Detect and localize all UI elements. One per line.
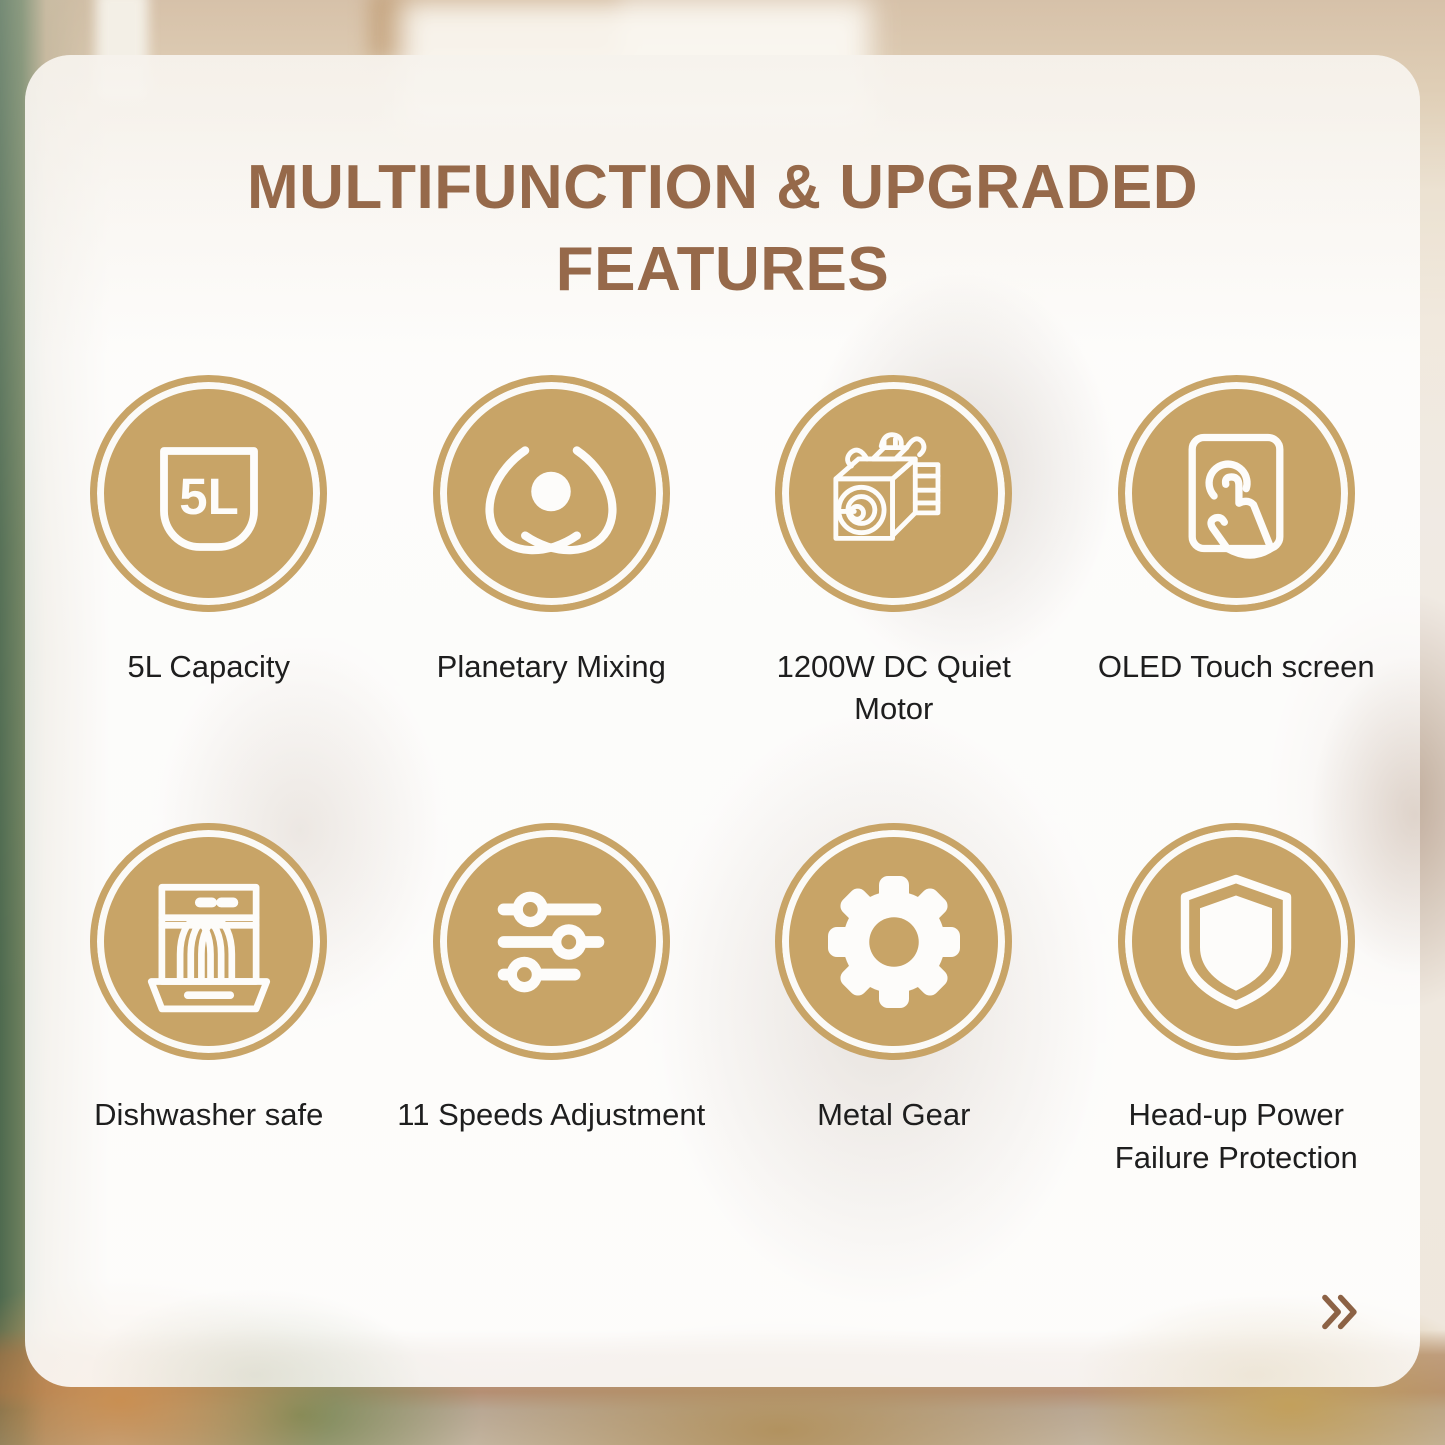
double-chevron-right-icon bbox=[1308, 1283, 1366, 1346]
feature-label: Dishwasher safe bbox=[94, 1094, 323, 1137]
feature-label: 1200W DC Quiet Motor bbox=[739, 646, 1049, 732]
feature-label: 5L Capacity bbox=[127, 646, 290, 689]
icon-badge bbox=[1118, 823, 1355, 1060]
feature-item-touch-screen[interactable]: OLED Touch screen bbox=[1065, 375, 1408, 732]
icon-badge: 5L bbox=[90, 375, 327, 612]
page-title: MULTIFUNCTION & UPGRADED FEATURES bbox=[163, 147, 1283, 311]
feature-label: Planetary Mixing bbox=[437, 646, 666, 689]
feature-item-speeds-adjustment[interactable]: 11 Speeds Adjustment bbox=[380, 823, 723, 1180]
icon-badge bbox=[433, 823, 670, 1060]
touch-screen-icon bbox=[1163, 420, 1309, 566]
shield-icon bbox=[1161, 867, 1311, 1017]
icon-badge bbox=[775, 375, 1012, 612]
feature-item-dishwasher-safe[interactable]: Dishwasher safe bbox=[38, 823, 381, 1180]
feature-item-power-failure-protection[interactable]: Head-up Power Failure Protection bbox=[1065, 823, 1408, 1180]
feature-label: OLED Touch screen bbox=[1098, 646, 1375, 689]
feature-grid: 5L 5L Capacity Planeta bbox=[38, 375, 1408, 1180]
dc-motor-icon bbox=[816, 415, 972, 571]
feature-label: Metal Gear bbox=[817, 1094, 970, 1137]
feature-item-metal-gear[interactable]: Metal Gear bbox=[723, 823, 1066, 1180]
icon-badge bbox=[775, 823, 1012, 1060]
feature-label: Head-up Power Failure Protection bbox=[1081, 1094, 1391, 1180]
capacity-badge-text: 5L bbox=[179, 468, 239, 525]
icon-badge bbox=[433, 375, 670, 612]
sliders-icon bbox=[477, 868, 625, 1016]
feature-label: 11 Speeds Adjustment bbox=[397, 1094, 705, 1137]
feature-item-5l-capacity[interactable]: 5L 5L Capacity bbox=[38, 375, 381, 732]
feature-item-dc-motor[interactable]: 1200W DC Quiet Motor bbox=[723, 375, 1066, 732]
feature-item-planetary-mixing[interactable]: Planetary Mixing bbox=[380, 375, 723, 732]
gear-icon bbox=[819, 867, 969, 1017]
icon-badge bbox=[90, 823, 327, 1060]
icon-badge bbox=[1118, 375, 1355, 612]
dishwasher-icon bbox=[133, 866, 285, 1018]
planetary-orbit-icon bbox=[475, 417, 627, 569]
next-page-button[interactable] bbox=[1306, 1283, 1368, 1345]
feature-card: MULTIFUNCTION & UPGRADED FEATURES 5L 5L … bbox=[25, 55, 1420, 1387]
bowl-5l-capacity-icon: 5L bbox=[134, 418, 284, 568]
